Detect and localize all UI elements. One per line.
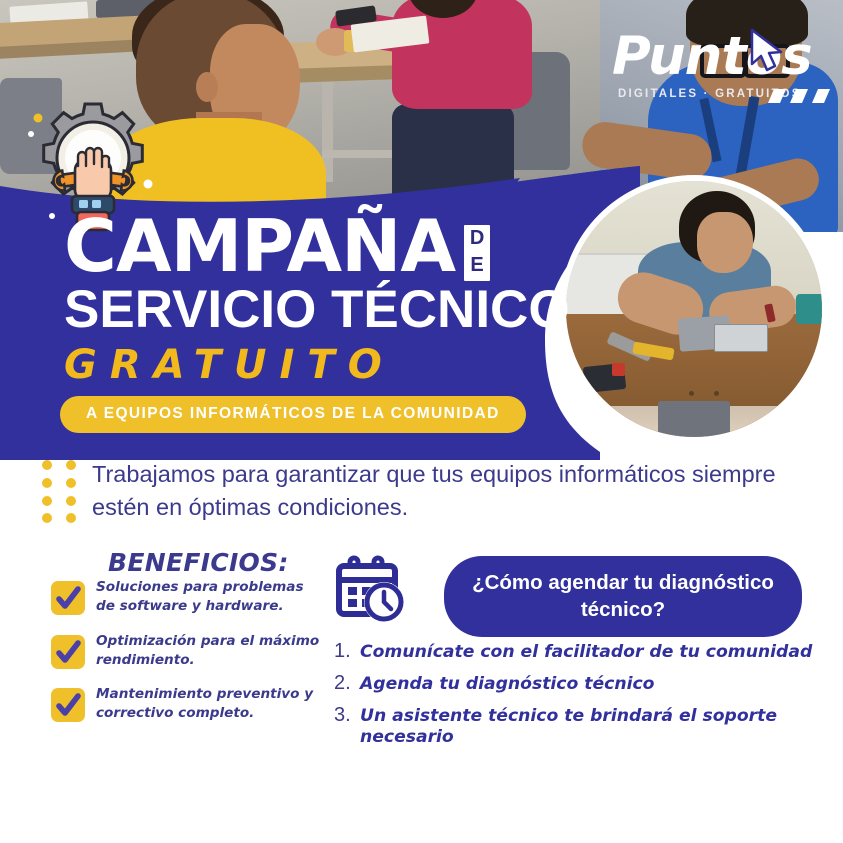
step-number: 1. (334, 640, 360, 663)
benefits-title: BENEFICIOS: (108, 548, 289, 577)
step-text: Comunícate con el facilitador de tu comu… (360, 642, 812, 663)
footer-bar: EL NUEVO ECUADOR Ministerio de Telecomun… (0, 770, 843, 843)
headline-campana: CAMPAÑA (64, 216, 455, 278)
headline-block: CAMPAÑADE SERVICIO TÉCNICO GRATUITO (64, 216, 544, 388)
calendar-clock-icon (328, 552, 406, 624)
benefit-item: Soluciones para problemas de software y … (50, 578, 320, 617)
headline-servicio-tecnico: SERVICIO TÉCNICO (64, 283, 544, 336)
puntos-logo: Puntos DIGITALES · GRATUITOS (612, 30, 827, 110)
subtitle-pill: A EQUIPOS INFORMÁTICOS DE LA COMUNIDAD (60, 396, 526, 433)
step-text: Un asistente técnico te brindará el sopo… (360, 706, 834, 747)
step-item: 1. Comunícate con el facilitador de tu c… (334, 640, 834, 663)
benefit-item: Optimización para el máximo rendimiento. (50, 632, 320, 671)
headline-gratuito: GRATUITO (64, 342, 544, 388)
step-number: 2. (334, 672, 360, 695)
de-badge: DE (464, 225, 490, 281)
schedule-question-pill: ¿Cómo agendar tu diagnóstico técnico? (444, 556, 802, 637)
de-badge-e: E (470, 254, 483, 276)
step-text: Agenda tu diagnóstico técnico (360, 674, 654, 695)
de-badge-d: D (470, 227, 484, 249)
puntos-wordmark: Puntos (612, 30, 827, 83)
cursor-pointer-icon (744, 26, 790, 78)
benefit-text: Optimización para el máximo rendimiento. (96, 632, 320, 671)
puntos-bars-icon (764, 87, 832, 105)
benefits-list: Soluciones para problemas de software y … (50, 578, 320, 739)
poster-canvas: Puntos DIGITALES · GRATUITOS CAMPAÑADE S… (0, 0, 843, 843)
step-item: 3. Un asistente técnico te brindará el s… (334, 704, 834, 747)
schedule-steps-list: 1. Comunícate con el facilitador de tu c… (334, 640, 834, 756)
description-text: Trabajamos para garantizar que tus equip… (92, 458, 822, 525)
dot-grid-decoration (40, 458, 88, 524)
checkmark-icon (50, 687, 86, 723)
benefit-item: Mantenimiento preventivo y correctivo co… (50, 685, 320, 724)
checkmark-icon (50, 580, 86, 616)
benefit-text: Soluciones para problemas de software y … (96, 578, 320, 617)
circle-photo-technician (560, 175, 828, 443)
checkmark-icon (50, 634, 86, 670)
benefit-text: Mantenimiento preventivo y correctivo co… (96, 685, 320, 724)
step-item: 2. Agenda tu diagnóstico técnico (334, 672, 834, 695)
step-number: 3. (334, 704, 360, 727)
